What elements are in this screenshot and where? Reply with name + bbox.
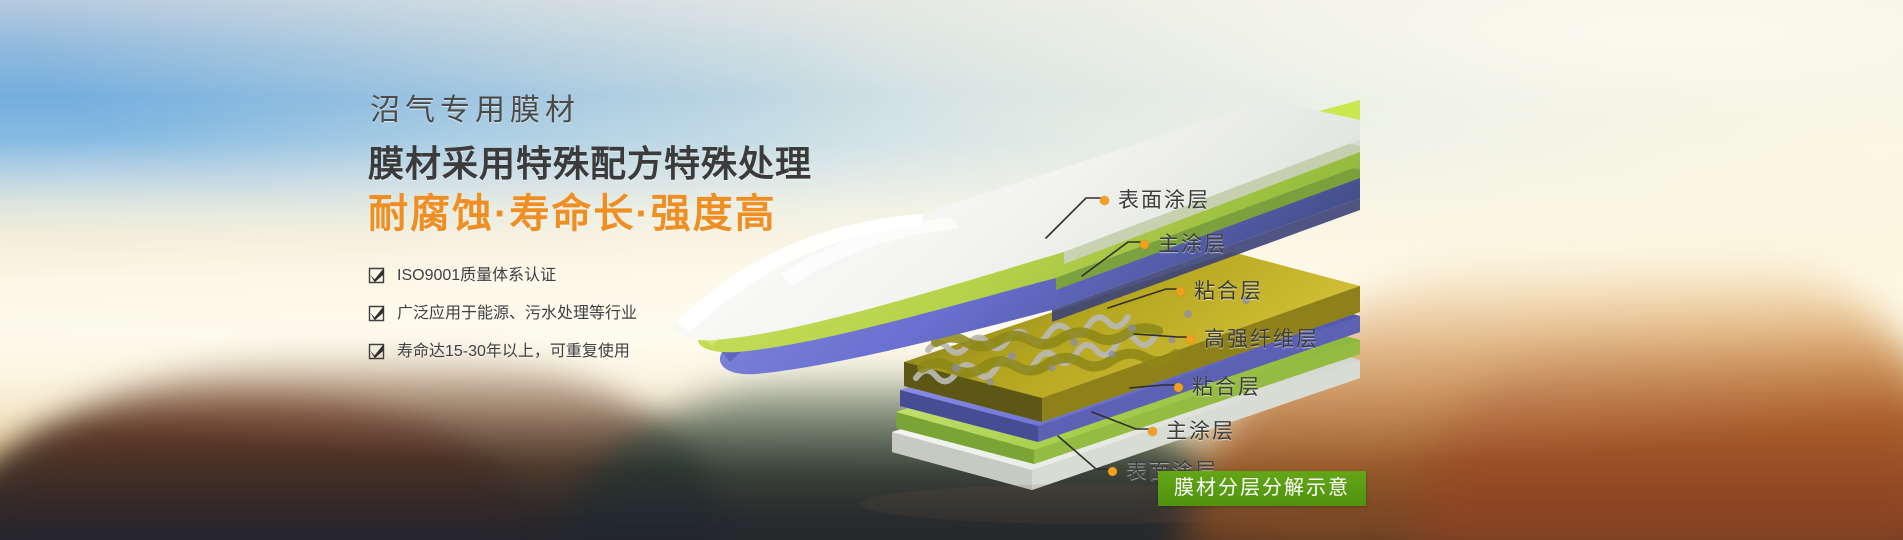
diagram-caption-badge: 膜材分层分解示意 — [1158, 471, 1366, 506]
callout-label: 主涂层 — [1158, 234, 1227, 255]
check-icon — [368, 305, 385, 322]
check-icon — [368, 267, 385, 284]
callout-dot-icon — [1174, 383, 1183, 392]
callout-label: 粘合层 — [1192, 377, 1261, 398]
list-item-label: 广泛应用于能源、污水处理等行业 — [397, 306, 637, 322]
callout-dot-icon — [1140, 240, 1149, 249]
callout-label: 表面涂层 — [1118, 190, 1210, 211]
callout-label: 高强纤维层 — [1204, 329, 1319, 350]
list-item-label: 寿命达15-30年以上，可重复使用 — [397, 344, 630, 360]
callout-label: 粘合层 — [1194, 281, 1263, 302]
callout-main-coating-top: 主涂层 — [1140, 234, 1227, 255]
callout-main-coating-bottom: 主涂层 — [1148, 421, 1235, 442]
promo-banner: 沼气专用膜材 膜材采用特殊配方特殊处理 耐腐蚀·寿命长·强度高 ISO9001质… — [0, 0, 1903, 540]
callout-leader-lines — [1000, 80, 1620, 500]
callout-adhesive-top: 粘合层 — [1176, 281, 1263, 302]
callout-adhesive-bottom: 粘合层 — [1174, 377, 1261, 398]
callout-high-strength-fiber: 高强纤维层 — [1186, 329, 1319, 350]
callout-label: 主涂层 — [1166, 421, 1235, 442]
list-item-label: ISO9001质量体系认证 — [397, 268, 556, 284]
callout-group: 表面涂层 主涂层 粘合层 高强纤维层 粘合层 主涂层 表面涂层 — [1000, 80, 1620, 500]
callout-dot-icon — [1186, 335, 1195, 344]
callout-dot-icon — [1100, 196, 1109, 205]
check-icon — [368, 343, 385, 360]
callout-dot-icon — [1148, 427, 1157, 436]
callout-dot-icon — [1108, 467, 1117, 476]
callout-surface-coating-top: 表面涂层 — [1100, 190, 1210, 211]
callout-dot-icon — [1176, 287, 1185, 296]
